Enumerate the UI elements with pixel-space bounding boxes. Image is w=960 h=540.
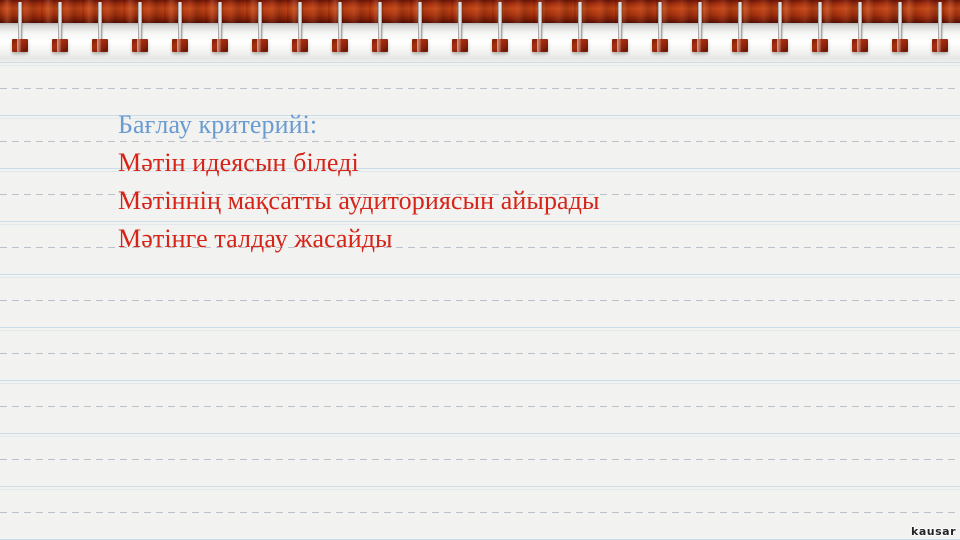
spiral-binding [0,0,960,62]
binding-ring [656,2,664,62]
ring-wire-icon [618,2,622,44]
criteria-text-block: Бағлау критерийі: Мәтін идеясын біледі М… [118,106,918,258]
binding-ring [176,2,184,62]
ring-foot-icon [732,39,748,52]
ring-wire-icon [58,2,62,44]
ring-foot-icon [652,39,668,52]
paper-sub-rule [0,65,960,66]
ring-wire-icon [338,2,342,44]
paper-ruled-lines [0,0,960,540]
ring-foot-icon [532,39,548,52]
ring-wire-icon [218,2,222,44]
ring-foot-icon [172,39,188,52]
binding-ring [696,2,704,62]
binding-ring [456,2,464,62]
ring-foot-icon [412,39,428,52]
ring-wire-icon [818,2,822,44]
paper-sub-rule [0,277,960,278]
paper-dash-rule [0,406,960,407]
binding-ring [136,2,144,62]
binding-ring [256,2,264,62]
notebook-slide: Бағлау критерийі: Мәтін идеясын біледі М… [0,0,960,540]
ring-foot-icon [932,39,948,52]
ring-wire-icon [698,2,702,44]
binding-ring [56,2,64,62]
ring-wire-icon [298,2,302,44]
binding-ring [16,2,24,62]
assessment-criteria-heading: Бағлау критерийі: [118,106,918,144]
ring-foot-icon [892,39,908,52]
ring-wire-icon [578,2,582,44]
ring-foot-icon [612,39,628,52]
binding-ring [616,2,624,62]
ring-foot-icon [772,39,788,52]
binding-ring [336,2,344,62]
ring-foot-icon [452,39,468,52]
ring-foot-icon [372,39,388,52]
ring-wire-icon [18,2,22,44]
criterion-item-1: Мәтін идеясын біледі [118,144,918,182]
ring-wire-icon [858,2,862,44]
paper-dashed-lines [0,0,960,540]
paper-sub-rule [0,383,960,384]
ring-foot-icon [212,39,228,52]
ring-foot-icon [132,39,148,52]
ring-wire-icon [658,2,662,44]
criterion-item-2: Мәтіннің мақсатты аудиториясын айырады [118,182,918,220]
ring-wire-icon [938,2,942,44]
ring-wire-icon [538,2,542,44]
ring-wire-icon [418,2,422,44]
ring-wire-icon [138,2,142,44]
ring-wire-icon [98,2,102,44]
binding-ring [416,2,424,62]
ring-wire-icon [258,2,262,44]
ring-foot-icon [332,39,348,52]
ring-foot-icon [12,39,28,52]
binding-ring [576,2,584,62]
binding-ring [816,2,824,62]
binding-ring [496,2,504,62]
ring-foot-icon [52,39,68,52]
paper-sub-rule [0,330,960,331]
paper-dash-rule [0,512,960,513]
ring-foot-icon [572,39,588,52]
paper-dash-rule [0,353,960,354]
ring-wire-icon [898,2,902,44]
ring-foot-icon [92,39,108,52]
paper-sub-rule [0,436,960,437]
criterion-item-3: Мәтінге талдау жасайды [118,220,918,258]
binding-ring [856,2,864,62]
ring-wire-icon [738,2,742,44]
ring-foot-icon [252,39,268,52]
binding-ring [296,2,304,62]
ring-foot-icon [492,39,508,52]
ring-foot-icon [852,39,868,52]
binding-ring [376,2,384,62]
ring-wire-icon [778,2,782,44]
kausar-watermark: kausar [911,525,956,538]
paper-dash-rule [0,459,960,460]
binding-ring [776,2,784,62]
binding-ring [896,2,904,62]
paper-sub-rule [0,489,960,490]
binding-ring [536,2,544,62]
ring-foot-icon [292,39,308,52]
ring-wire-icon [178,2,182,44]
paper-dash-rule [0,88,960,89]
binding-ring [216,2,224,62]
ring-foot-icon [812,39,828,52]
paper-dash-rule [0,300,960,301]
ring-wire-icon [458,2,462,44]
ring-wire-icon [378,2,382,44]
ring-foot-icon [692,39,708,52]
ring-wire-icon [498,2,502,44]
binding-ring [936,2,944,62]
binding-ring [96,2,104,62]
binding-ring [736,2,744,62]
